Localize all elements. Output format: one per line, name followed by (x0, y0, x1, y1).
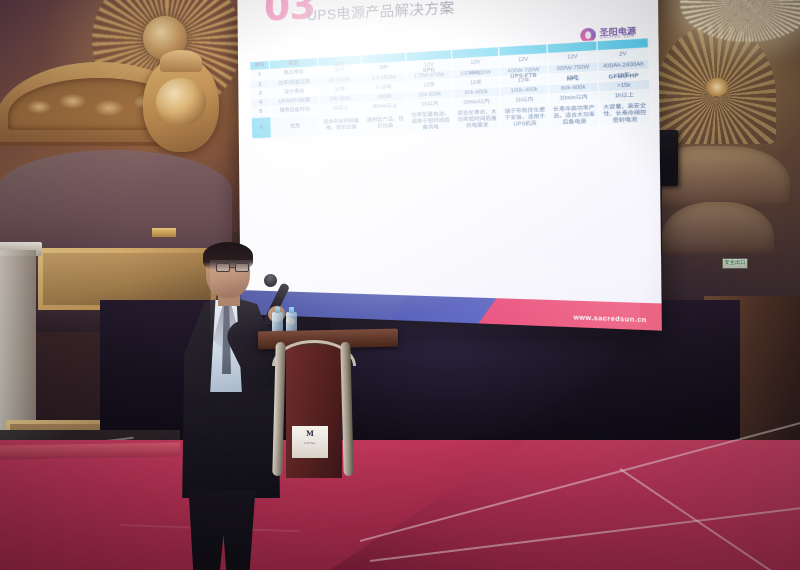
presentation-photo-scene: 安全出口 03 UPS电源产品解决方案 圣阳电源 SACRED SUN (0, 0, 800, 570)
cell-value: 通用型产品，性价比高 (363, 111, 408, 135)
cell-value: 大容量、高安全性、长寿命阀控密封电池 (599, 100, 651, 126)
lectern: M HOTEL (258, 330, 398, 480)
medallion-crest (160, 50, 202, 72)
cell-value: 适合长寿命、大功率短时间后备供电需求 (453, 107, 501, 132)
slide-surface: 03 UPS电源产品解决方案 圣阳电源 SACRED SUN (237, 0, 661, 331)
right-arch-light (706, 78, 728, 96)
medallion-sphere (156, 78, 206, 126)
hotel-logo-subtext: HOTEL (292, 441, 328, 445)
cell-value: 长寿命高功率产品，适合大功率后备电源 (549, 102, 600, 128)
lectern-rail-left (272, 342, 286, 476)
row-label: 优势 (271, 114, 320, 138)
cell-value: 端子布局优化便于安装，适用于UPS机房 (500, 105, 549, 131)
exit-sign: 安全出口 (722, 258, 748, 269)
exit-sign-label: 安全出口 (724, 261, 745, 266)
presentation-slide: 03 UPS电源产品解决方案 圣阳电源 SACRED SUN (237, 0, 661, 331)
lens-left (216, 263, 230, 272)
wall-plaque (152, 228, 176, 237)
microphone-head-icon (262, 272, 279, 289)
slide-title: UPS电源产品解决方案 (307, 0, 455, 25)
right-wall-panel-lower (662, 202, 774, 254)
eyeglasses (216, 263, 250, 272)
product-comparison-table: 序号 项目 SPE SP SPG HRL UPS-FTB HPL GFMU-HP (249, 37, 652, 139)
lens-right (235, 263, 249, 272)
projection-screen: 03 UPS电源产品解决方案 圣阳电源 SACRED SUN (237, 0, 661, 331)
lectern-logo-plate: M HOTEL (292, 426, 328, 458)
hotel-logo-icon: M (306, 429, 314, 438)
product-comparison-table-wrapper: 序号 项目 SPE SP SPG HRL UPS-FTB HPL GFMU-HP (249, 37, 648, 139)
cell-value: 适合中长时间备电，性价比高 (319, 112, 363, 136)
cell-value: 功率型蓄电池，适用于短时间后备供电 (407, 109, 454, 134)
row-index: 6 (251, 116, 271, 139)
